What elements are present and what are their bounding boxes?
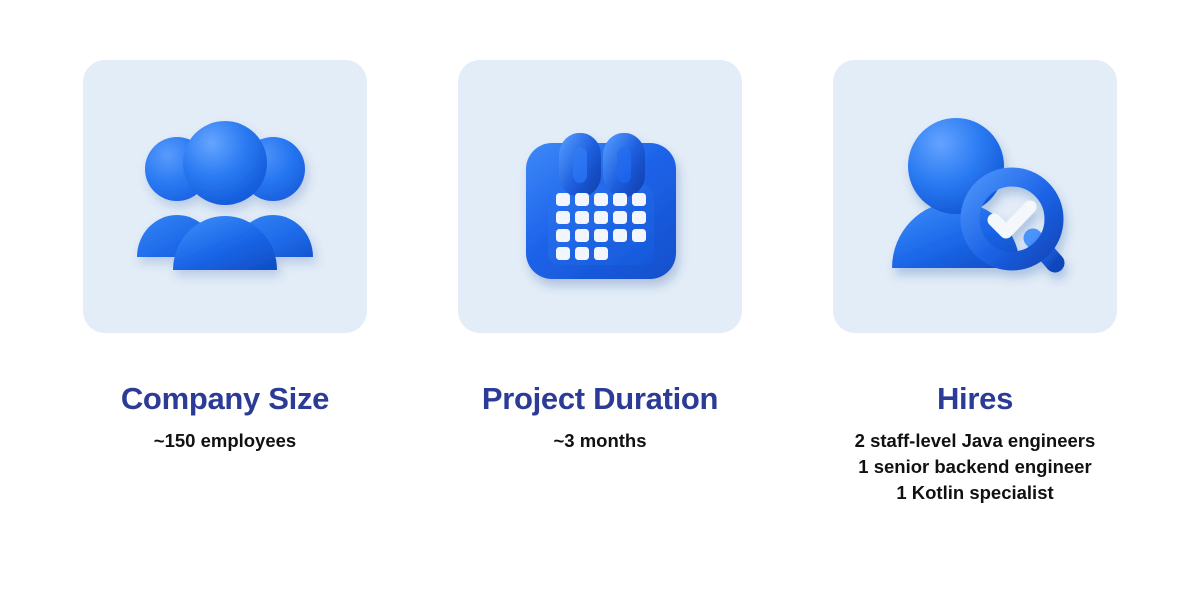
user-search-check-3d-icon (870, 102, 1080, 292)
icon-card-project-duration (458, 60, 742, 333)
calendar-3d-icon (500, 97, 700, 297)
stat-column-company-size: Company Size ~150 employees (38, 0, 413, 454)
card-title-project-duration: Project Duration (482, 383, 718, 416)
icon-card-hires (833, 60, 1117, 333)
subtext-line: ~150 employees (154, 428, 296, 454)
stat-column-hires: Hires 2 staff-level Java engineers 1 sen… (788, 0, 1163, 506)
stats-board: Company Size ~150 employees (0, 0, 1200, 600)
stat-column-project-duration: Project Duration ~3 months (413, 0, 788, 454)
icon-card-company-size (83, 60, 367, 333)
subtext-line: 1 senior backend engineer (855, 454, 1096, 480)
card-subtext-hires: 2 staff-level Java engineers 1 senior ba… (855, 428, 1096, 507)
card-subtext-company-size: ~150 employees (154, 428, 296, 454)
people-group-3d-icon (115, 107, 335, 287)
stats-columns: Company Size ~150 employees (0, 0, 1200, 506)
subtext-line: ~3 months (553, 428, 646, 454)
card-subtext-project-duration: ~3 months (553, 428, 646, 454)
card-title-hires: Hires (937, 383, 1013, 416)
subtext-line: 1 Kotlin specialist (855, 480, 1096, 506)
subtext-line: 2 staff-level Java engineers (855, 428, 1096, 454)
card-title-company-size: Company Size (121, 383, 329, 416)
